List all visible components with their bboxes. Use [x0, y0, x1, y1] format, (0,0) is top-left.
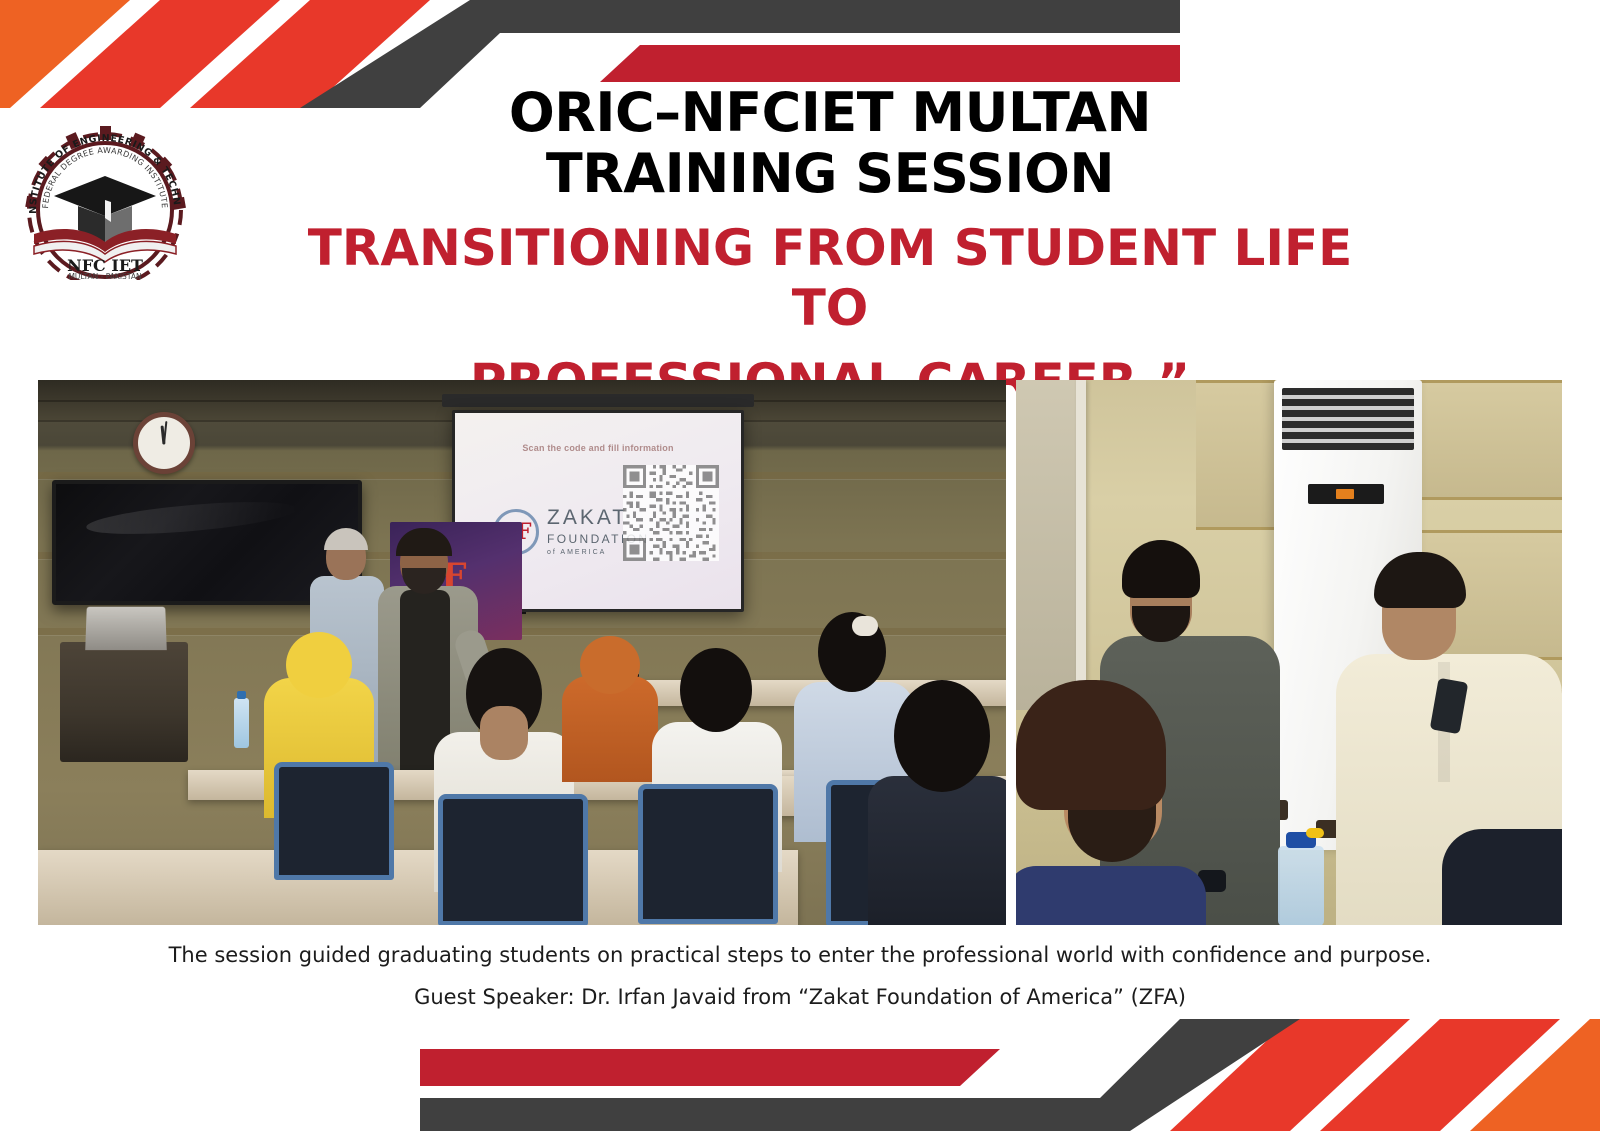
chair-2	[438, 794, 588, 925]
gear-crest-icon: NFC INSTITUTE OF ENGINEERING & TECHNOLOG…	[16, 118, 194, 280]
wall-panel-2	[1420, 380, 1562, 500]
attendee-foreground-right	[1016, 680, 1206, 925]
event-title-line2: TRAINING SESSION	[280, 143, 1380, 204]
door-frame	[1076, 380, 1086, 710]
caption-line-2: Guest Speaker: Dr. Irfan Javaid from “Za…	[0, 982, 1600, 1014]
laptop	[85, 607, 167, 650]
projector-screen-roller	[442, 394, 754, 407]
water-bottle	[234, 698, 249, 748]
wall-clock	[133, 412, 195, 474]
ac-grille	[1282, 388, 1414, 450]
foreground-shoulder	[1442, 829, 1562, 925]
flyer-canvas: NFC INSTITUTE OF ENGINEERING & TECHNOLOG…	[0, 0, 1600, 1131]
title-block: ORIC–NFCIET MULTAN TRAINING SESSION TRAN…	[280, 82, 1380, 412]
chevron-stripes-bottom-right-icon	[420, 1019, 1600, 1131]
qr-code-icon	[623, 465, 719, 561]
photo-seminar-room: Scan the code and fill information ZAKAT…	[38, 380, 1006, 925]
caption-line-1: The session guided graduating students o…	[0, 940, 1600, 972]
event-subtitle-line1: TRANSITIONING FROM STUDENT LIFE TO	[280, 218, 1380, 338]
caption-block: The session guided graduating students o…	[0, 940, 1600, 1013]
event-title-line1: ORIC–NFCIET MULTAN	[280, 82, 1380, 143]
podium	[60, 642, 188, 762]
logo-location: MULTAN - PAKISTAN	[68, 272, 141, 280]
flyer-header: NFC INSTITUTE OF ENGINEERING & TECHNOLOG…	[0, 0, 1600, 378]
attendee-orange-scarf	[562, 636, 658, 776]
photo-attendees	[1016, 380, 1562, 925]
ac-display-panel	[1308, 484, 1384, 504]
photo-collage: Scan the code and fill information ZAKAT…	[38, 380, 1562, 925]
chair-1	[274, 762, 394, 880]
door	[1016, 380, 1078, 710]
attendee-foreground	[868, 680, 1006, 925]
slide-heading: Scan the code and fill information	[455, 443, 741, 453]
water-bottle-right	[1278, 846, 1324, 925]
chair-3	[638, 784, 778, 924]
nfc-iet-logo: NFC INSTITUTE OF ENGINEERING & TECHNOLOG…	[16, 118, 194, 280]
